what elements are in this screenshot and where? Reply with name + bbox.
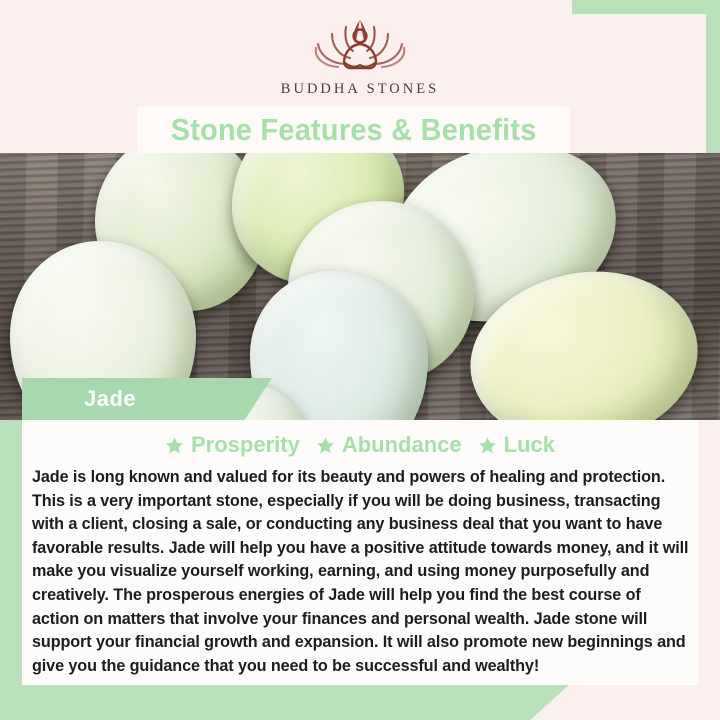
title-banner: Stone Features & Benefits (137, 106, 570, 153)
benefit-label: Abundance (342, 432, 462, 458)
benefit-label: Prosperity (191, 432, 300, 458)
stone-description: Jade is long known and valued for its be… (22, 466, 698, 678)
star-icon (478, 436, 497, 455)
benefit-label: Luck (504, 432, 555, 458)
frame-accent-bottom (0, 684, 570, 720)
benefit-item-abundance: Abundance (316, 432, 462, 458)
benefit-item-luck: Luck (478, 432, 555, 458)
star-icon (165, 436, 184, 455)
stone-info-poster: BUDDHA STONES Stone Features & Benefits … (0, 0, 720, 720)
benefit-item-prosperity: Prosperity (165, 432, 300, 458)
stone-name-tag: Jade (22, 378, 272, 420)
content-panel: Prosperity Abundance Luck Jade is long k… (22, 420, 698, 685)
star-icon (316, 436, 335, 455)
lotus-meditation-icon (300, 14, 420, 76)
brand-name: BUDDHA STONES (281, 81, 439, 98)
benefits-row: Prosperity Abundance Luck (22, 420, 698, 466)
frame-accent-top-right (572, 0, 720, 14)
brand-logo: BUDDHA STONES (0, 14, 720, 98)
stone-name-label: Jade (84, 386, 136, 412)
page-title: Stone Features & Benefits (171, 112, 537, 148)
